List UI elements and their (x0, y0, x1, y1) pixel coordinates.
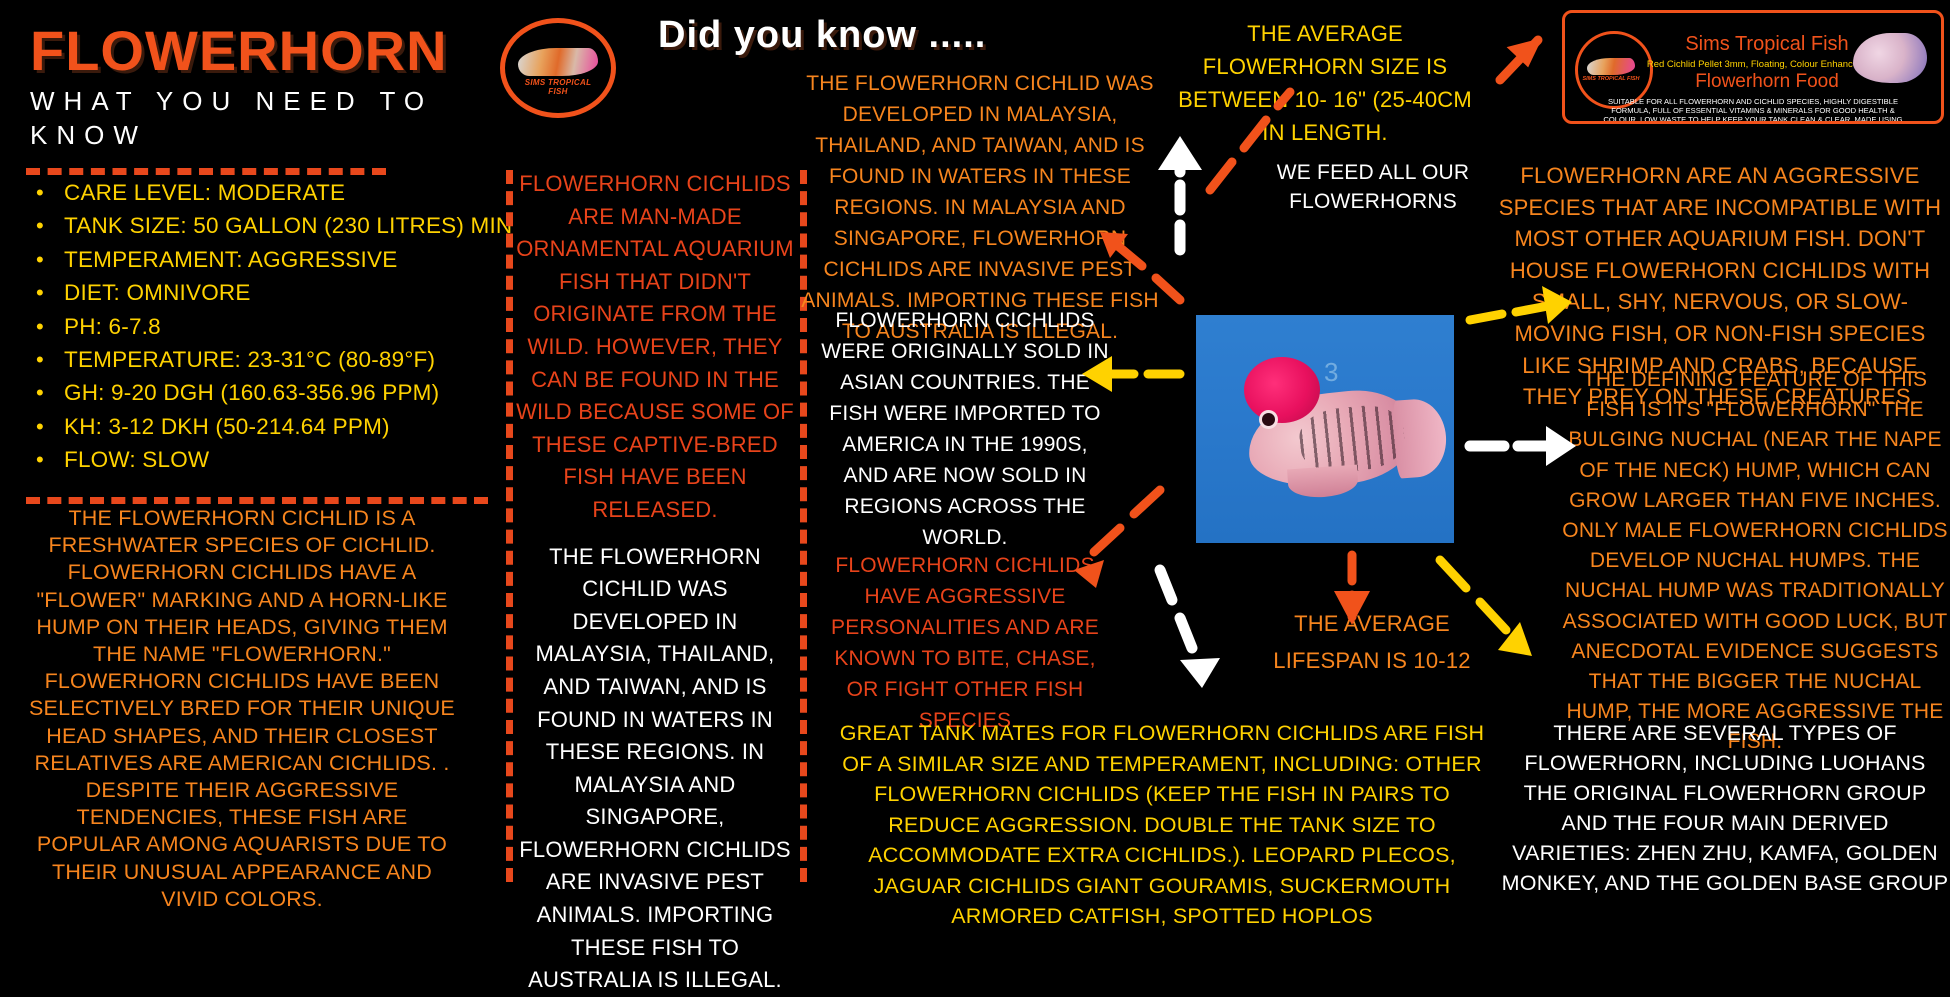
list-item: TANK SIZE: 50 GALLON (230 LITRES) MIN (64, 209, 464, 242)
arrow-yellow-left-history (1030, 340, 1190, 410)
list-item: TEMPERATURE: 23-31°C (80-89°F) (64, 343, 464, 376)
right-varieties-text: THERE ARE SEVERAL TYPES OF FLOWERHORN, I… (1500, 718, 1950, 898)
fish-eye-shape (1262, 413, 1275, 426)
arrowhead-lifespan (1310, 565, 1410, 635)
page-subtitle: WHAT YOU NEED TO KNOW (30, 84, 490, 152)
title-block: FLOWERHORN WHAT YOU NEED TO KNOW (30, 22, 490, 152)
product-card[interactable]: SIMS TROPICAL FISH Sims Tropical Fish Re… (1562, 10, 1944, 124)
arrow-yellow-down-right-varieties (1420, 550, 1600, 710)
col2-text-a: FLOWERHORN CICHLIDS ARE MAN-MADE ORNAMEN… (512, 168, 798, 527)
infographic-canvas: FLOWERHORN WHAT YOU NEED TO KNOW CARE LE… (0, 0, 1950, 900)
list-item: KH: 3-12 DKH (50-214.64 PPM) (64, 410, 464, 443)
list-item: CARE LEVEL: MODERATE (64, 176, 464, 209)
arrowhead-product (1480, 22, 1580, 122)
flowerhorn-fish-photo: 3 (1196, 315, 1454, 543)
product-brand: Sims Tropical Fish (1657, 33, 1877, 56)
fish-nuchal-hump-shape (1244, 357, 1320, 423)
left-description-paragraph: THE FLOWERHORN CICHLID IS A FRESHWATER S… (22, 505, 462, 913)
arrow-yellow-right-compat (1460, 270, 1620, 350)
arrow-orange-upleft (1060, 200, 1200, 310)
product-fine-print: SUITABLE FOR ALL FLOWERHORN AND CICHLID … (1595, 97, 1911, 124)
arrow-orange-to-product (1140, 30, 1300, 210)
divider-top-left (26, 168, 386, 175)
column-two: FLOWERHORN CICHLIDS ARE MAN-MADE ORNAMEN… (512, 168, 798, 997)
list-item: PH: 6-7.8 (64, 310, 464, 343)
fish-fin-shape (1287, 465, 1359, 500)
photo-number-decor: 3 (1324, 357, 1338, 388)
product-logo-fish-icon (1587, 58, 1635, 75)
list-item: TEMPERAMENT: AGGRESSIVE (64, 243, 464, 276)
list-item: DIET: OMNIVORE (64, 276, 464, 309)
page-title: FLOWERHORN (30, 22, 490, 80)
list-item: FLOW: SLOW (64, 443, 464, 476)
list-item: GH: 9-20 DGH (160.63-356.96 PPM) (64, 376, 464, 409)
product-name: Flowerhorn Food (1657, 71, 1877, 93)
sims-tropical-fish-logo: SIMS TROPICAL FISH (500, 18, 616, 118)
logo-caption: SIMS TROPICAL FISH (514, 78, 602, 96)
product-fish-photo (1853, 33, 1927, 83)
center-tankmates-text: GREAT TANK MATES FOR FLOWERHORN CICHLIDS… (826, 718, 1498, 932)
arrow-white-down-left (1130, 560, 1250, 720)
logo-fish-icon (518, 48, 598, 76)
divider-mid-left (26, 497, 488, 504)
did-you-know-heading: Did you know ..... (658, 14, 986, 57)
col2-text-b: THE FLOWERHORN CICHLID WAS DEVELOPED IN … (512, 541, 798, 997)
care-facts-list: CARE LEVEL: MODERATE TANK SIZE: 50 GALLO… (34, 176, 464, 477)
arrow-white-right-hump (1460, 400, 1620, 490)
product-logo-caption: SIMS TROPICAL FISH (1580, 76, 1642, 82)
